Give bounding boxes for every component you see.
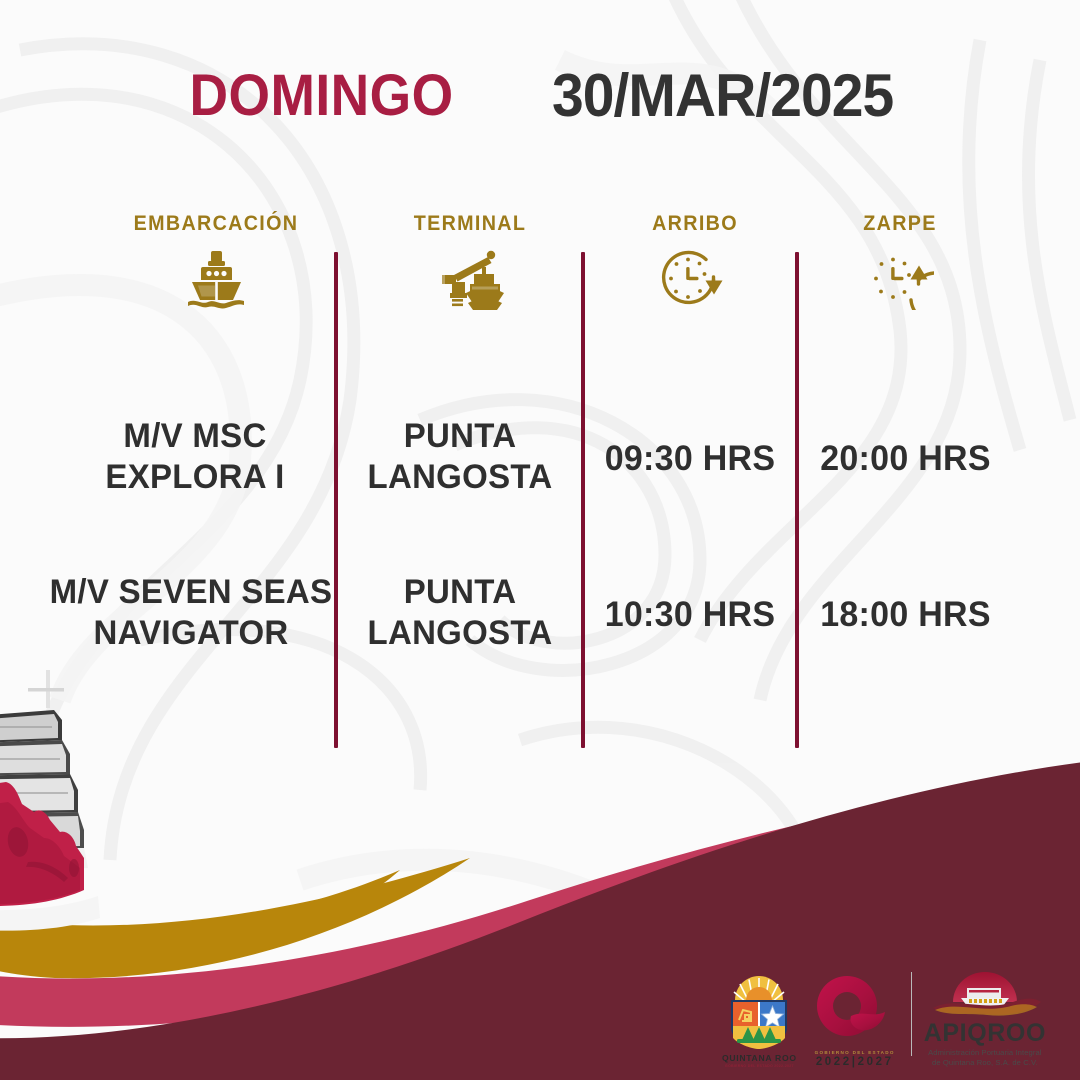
table-row-2-zarpe: 18:00 HRS — [806, 594, 1005, 637]
quintana-roo-name: QUINTANA ROO — [722, 1053, 797, 1063]
wave-gold — [0, 870, 400, 970]
clock-arrival-icon — [590, 247, 800, 313]
logo-divider — [911, 972, 912, 1056]
column-label-zarpe: ZARPE — [806, 212, 994, 236]
port-crane-ship-icon — [350, 247, 590, 313]
gobierno-q-logo: GOBIERNO DEL ESTADO 2022|2027 — [811, 974, 899, 1068]
column-label-arribo: ARRIBO — [596, 212, 793, 236]
column-header-terminal: TERMINAL — [350, 212, 590, 313]
column-header-arribo: ARRIBO — [590, 212, 800, 313]
divider-3 — [795, 252, 799, 748]
divider-2 — [581, 252, 585, 748]
column-label-terminal: TERMINAL — [357, 212, 583, 236]
quintana-roo-logo: QUINTANA ROO GOBIERNO DEL ESTADO 2022-20… — [722, 976, 797, 1069]
cruise-ship-icon — [96, 247, 336, 313]
gobierno-years: 2022|2027 — [816, 1056, 894, 1068]
day-title: DOMINGO — [189, 62, 453, 129]
apiqroo-subtitle-line2: de Quintana Roo, S.A. de C.V. — [928, 1058, 1041, 1068]
table-row-1-terminal: PUNTA LANGOSTA — [348, 416, 571, 499]
apiqroo-title: APIQROO — [924, 1021, 1046, 1046]
column-header-zarpe: ZARPE — [800, 212, 1000, 313]
table-row-1-arribo: 09:30 HRS — [594, 438, 786, 481]
apiqroo-logo: APIQROO Administración Portuaria Integra… — [924, 958, 1046, 1069]
table-row-2-arribo: 10:30 HRS — [594, 594, 786, 637]
table-row-2-embarcacion: M/V SEVEN SEAS NAVIGATOR — [49, 572, 332, 655]
page-header: DOMINGO 30/MAR/2025 — [0, 50, 1080, 140]
apiqroo-subtitle-line1: Administración Portuaria Integral — [928, 1048, 1041, 1058]
clock-departure-icon — [800, 247, 1000, 313]
gobierno-caption: GOBIERNO DEL ESTADO — [815, 1050, 895, 1055]
quintana-roo-subtitle: GOBIERNO DEL ESTADO 2022-2027 — [725, 1064, 794, 1068]
divider-1 — [334, 252, 338, 748]
column-label-embarcacion: EMBARCACIÓN — [103, 212, 329, 236]
column-header-embarcacion: EMBARCACIÓN — [96, 212, 336, 313]
table-row-1-embarcacion: M/V MSC EXPLORA I — [64, 416, 326, 499]
table-row-1-zarpe: 20:00 HRS — [806, 438, 1005, 481]
table-row-2-terminal: PUNTA LANGOSTA — [348, 572, 571, 655]
date-title: 30/MAR/2025 — [552, 61, 893, 130]
footer-logos: QUINTANA ROO GOBIERNO DEL ESTADO 2022-20… — [722, 958, 1046, 1068]
